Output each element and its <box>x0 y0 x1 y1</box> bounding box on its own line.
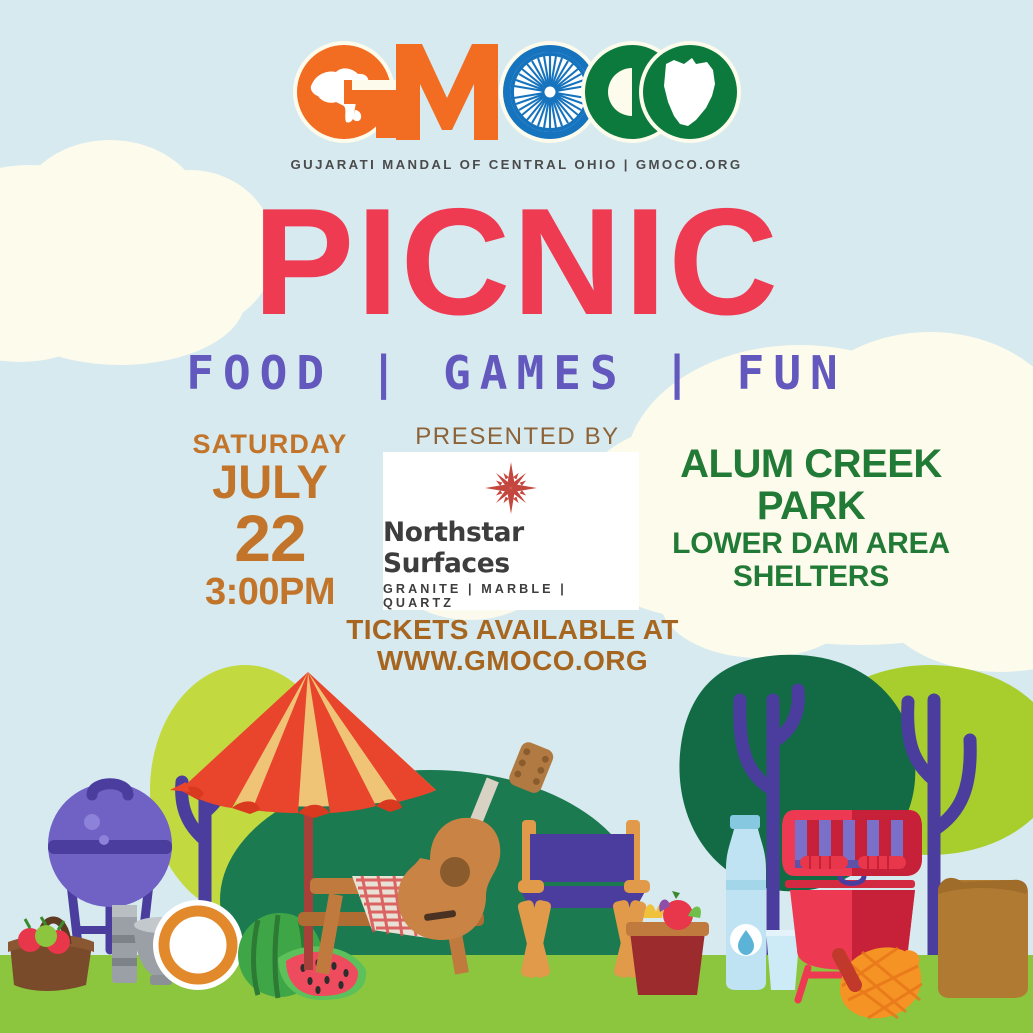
venue-info: ALUM CREEK PARK LOWER DAM AREA SHELTERS <box>630 443 992 593</box>
picnic-event-poster: GUJARATI MANDAL OF CENTRAL OHIO | GMOCO.… <box>0 0 1033 1033</box>
compass-star-icon <box>465 461 557 515</box>
presented-by-label: PRESENTED BY <box>385 423 650 451</box>
logo-tagline: GUJARATI MANDAL OF CENTRAL OHIO | GMOCO.… <box>0 157 1033 172</box>
event-month: JULY <box>150 460 390 504</box>
letter-m <box>396 44 498 140</box>
page-subtitle: FOOD | GAMES | FUN <box>0 348 1033 398</box>
event-time: 3:00PM <box>150 573 390 611</box>
venue-shelters: SHELTERS <box>630 560 992 593</box>
gmoco-logo: GUJARATI MANDAL OF CENTRAL OHIO | GMOCO.… <box>0 40 1033 172</box>
page-title: PICNIC <box>0 186 1033 338</box>
ohio-map-icon <box>639 41 741 143</box>
sponsor-subtitle: GRANITE | MARBLE | QUARTZ <box>383 582 639 610</box>
logo-letters <box>292 40 742 145</box>
gmoco-logo-mark <box>292 40 742 145</box>
tickets-info: TICKETS AVAILABLE AT WWW.GMOCO.ORG <box>330 614 695 676</box>
event-date-block: SATURDAY JULY 22 3:00PM <box>150 430 390 611</box>
tickets-line-1: TICKETS AVAILABLE AT <box>330 614 695 645</box>
venue-area: LOWER DAM AREA <box>630 527 992 560</box>
sponsor-logo-card: Northstar Surfaces GRANITE | MARBLE | QU… <box>383 452 639 610</box>
event-day-number: 22 <box>150 506 390 570</box>
sponsor-name: Northstar Surfaces <box>383 517 639 579</box>
gujarat-map-icon <box>293 41 398 143</box>
tickets-line-2: WWW.GMOCO.ORG <box>330 645 695 676</box>
venue-name: ALUM CREEK PARK <box>630 443 992 527</box>
